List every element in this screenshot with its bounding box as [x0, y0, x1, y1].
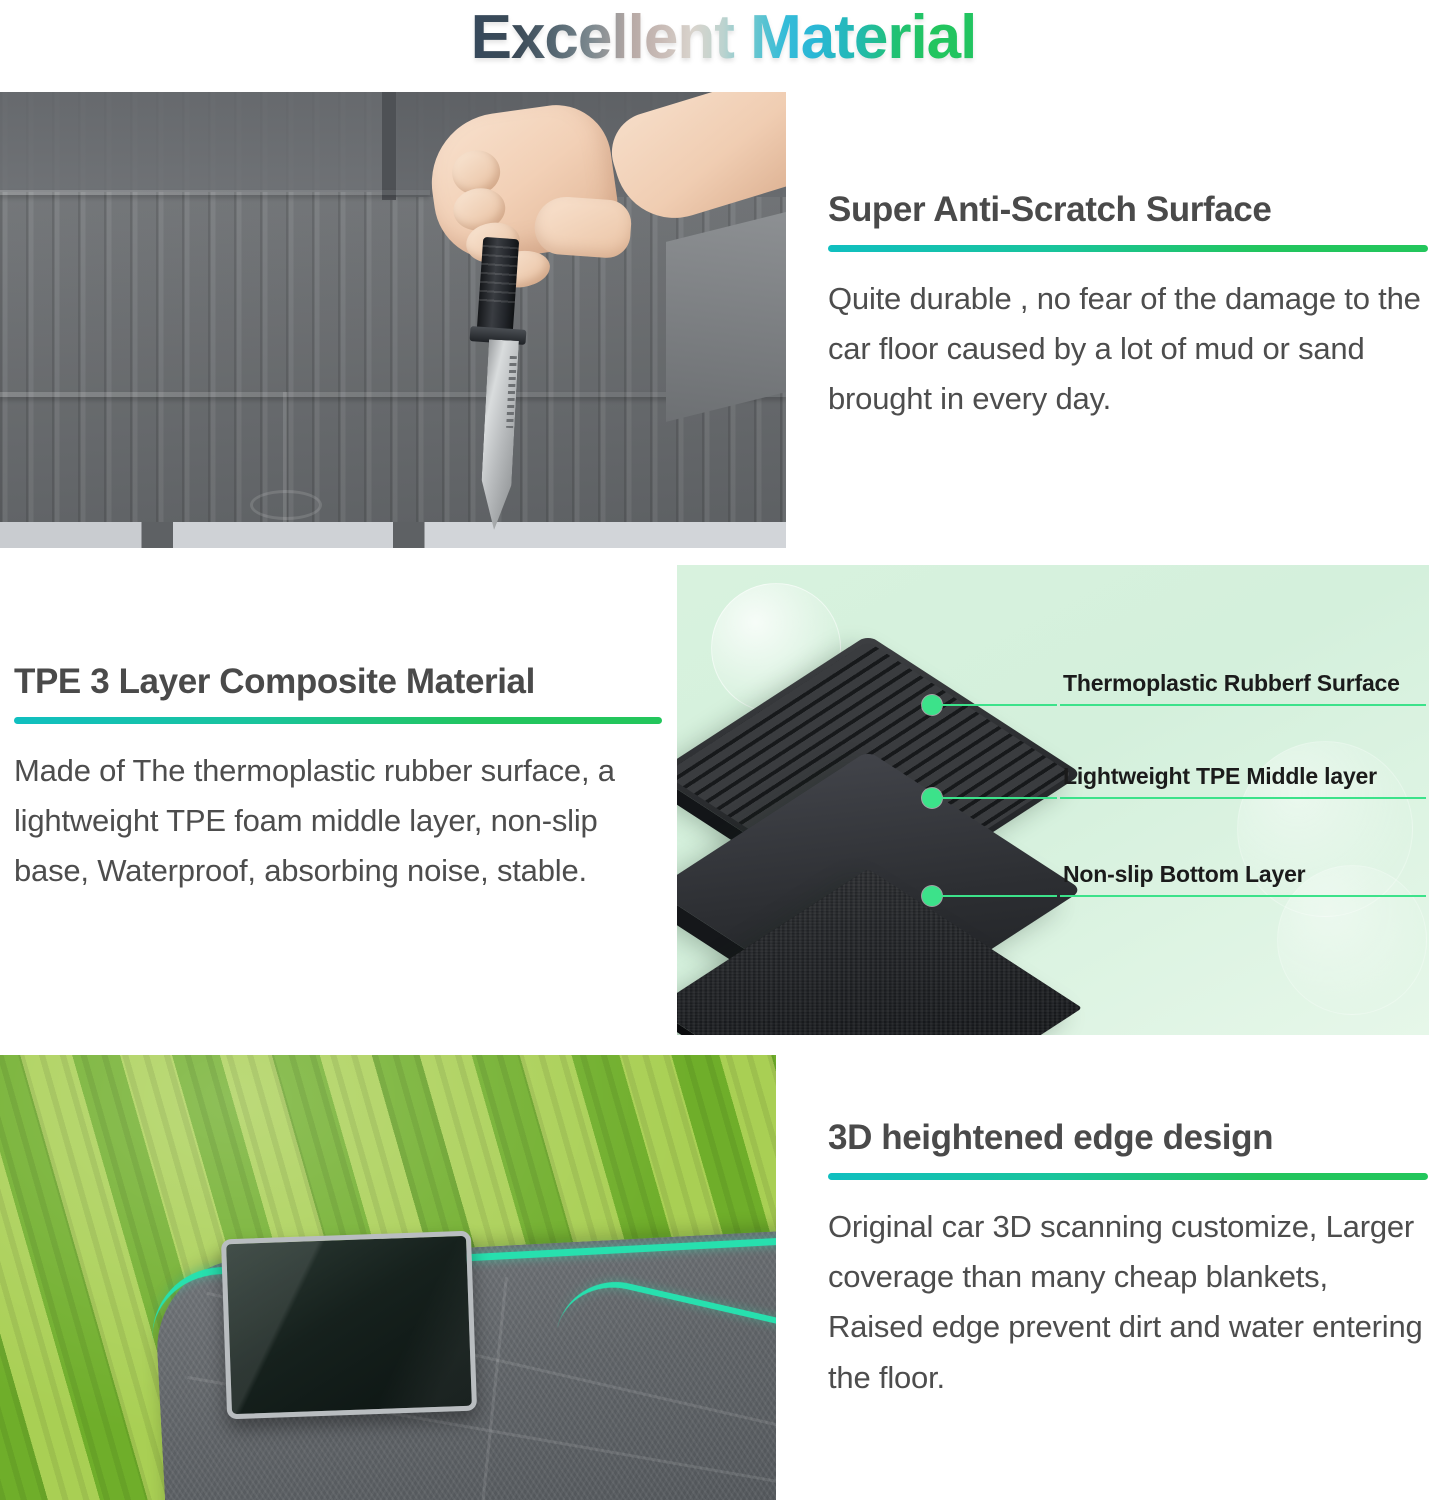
feature-heading-anti-scratch: Super Anti-Scratch Surface [828, 190, 1428, 230]
page-title-text: Excellent Material [471, 3, 977, 72]
feature-body-3d-edge: Original car 3D scanning customize, Larg… [828, 1202, 1428, 1403]
feature-heading-tpe-layers: TPE 3 Layer Composite Material [14, 662, 662, 702]
knife-handle [477, 237, 519, 333]
feature-body-anti-scratch: Quite durable , no fear of the damage to… [828, 274, 1428, 425]
mat-bottom-trim [0, 522, 786, 548]
callout-label-middle: Lightweight TPE Middle layer [1063, 763, 1377, 790]
callout-underline-middle [1060, 797, 1426, 799]
callout-line-middle [939, 797, 1057, 799]
feature-block-tpe-layers: TPE 3 Layer Composite Material Made of T… [14, 662, 662, 897]
forearm [602, 92, 786, 233]
layer-structure-diagram: Thermoplastic Rubberf Surface Lightweigh… [677, 565, 1429, 1035]
device-on-mat [221, 1231, 477, 1420]
fist [423, 98, 623, 267]
callout-underline-surface [1060, 704, 1426, 706]
callout-label-surface: Thermoplastic Rubberf Surface [1063, 670, 1400, 697]
feature-body-tpe-layers: Made of The thermoplastic rubber surface… [14, 746, 662, 897]
mat-seam-upper [0, 190, 430, 195]
feature-rule-anti-scratch [828, 245, 1428, 252]
feature-heading-3d-edge: 3D heightened edge design [828, 1118, 1428, 1158]
thumb [533, 195, 633, 260]
photo-anti-scratch-test [0, 92, 786, 548]
callout-line-surface [939, 704, 1057, 706]
callout-line-bottom [939, 895, 1057, 897]
hand-holding-knife [418, 92, 786, 298]
exploded-layer-stack [685, 621, 1065, 1021]
page-title: Excellent Material [0, 0, 1447, 80]
feature-block-anti-scratch: Super Anti-Scratch Surface Quite durable… [828, 190, 1428, 425]
photo-raised-edge-on-grass [0, 1055, 776, 1500]
callout-underline-bottom [1060, 895, 1426, 897]
callout-label-bottom: Non-slip Bottom Layer [1063, 861, 1305, 888]
feature-block-3d-edge: 3D heightened edge design Original car 3… [828, 1118, 1428, 1403]
mat-embossed-oval [250, 490, 322, 520]
mat-upright-divider [382, 92, 396, 200]
feature-rule-3d-edge [828, 1173, 1428, 1180]
mat-upper-panel [0, 92, 390, 192]
feature-rule-tpe-layers [14, 717, 662, 724]
